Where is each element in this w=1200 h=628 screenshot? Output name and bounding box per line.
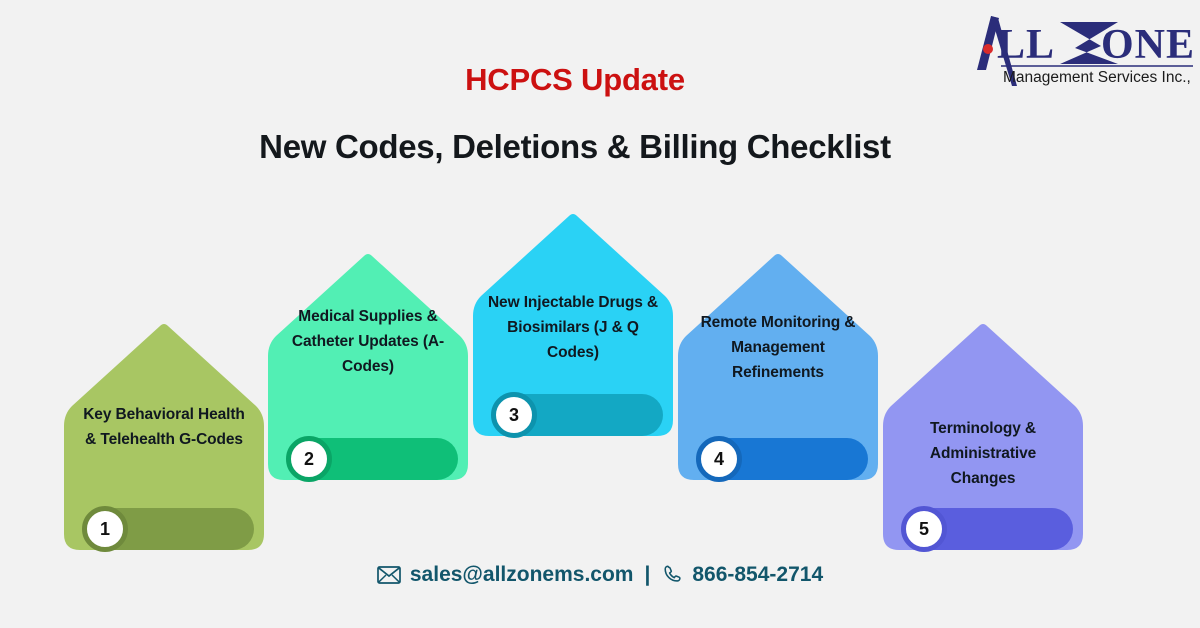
footer-phone[interactable]: 866-854-2714: [692, 563, 823, 587]
step-card-4[interactable]: Remote Monitoring & Management Refinemen…: [678, 252, 878, 484]
footer-contact: sales@allzonems.com | 866-854-2714: [0, 563, 1200, 587]
page-subtitle: New Codes, Deletions & Billing Checklist: [0, 128, 1150, 166]
infographic-canvas: LL ONE Management Services Inc., HCPCS U…: [0, 0, 1200, 628]
step-number-1[interactable]: 1: [82, 506, 128, 552]
footer-separator: |: [642, 563, 652, 587]
phone-icon: [661, 564, 683, 586]
step-label-1: Key Behavioral Health & Telehealth G-Cod…: [64, 402, 264, 452]
step-number-2[interactable]: 2: [286, 436, 332, 482]
step-number-3[interactable]: 3: [491, 392, 537, 438]
step-label-3: New Injectable Drugs & Biosimilars (J & …: [473, 290, 673, 365]
step-card-1[interactable]: Key Behavioral Health & Telehealth G-Cod…: [64, 322, 264, 554]
step-number-4[interactable]: 4: [696, 436, 742, 482]
step-label-4: Remote Monitoring & Management Refinemen…: [678, 310, 878, 385]
step-number-5[interactable]: 5: [901, 506, 947, 552]
step-card-5[interactable]: Terminology & Administrative Changes 5: [883, 322, 1083, 554]
envelope-icon: [377, 566, 401, 584]
step-card-2[interactable]: Medical Supplies & Catheter Updates (A-C…: [268, 252, 468, 484]
step-label-5: Terminology & Administrative Changes: [883, 416, 1083, 491]
step-card-3[interactable]: New Injectable Drugs & Biosimilars (J & …: [473, 212, 673, 440]
step-label-2: Medical Supplies & Catheter Updates (A-C…: [268, 304, 468, 379]
footer-email[interactable]: sales@allzonems.com: [410, 563, 634, 587]
page-title: HCPCS Update: [0, 62, 1150, 98]
logo-dot-icon: [983, 44, 993, 54]
